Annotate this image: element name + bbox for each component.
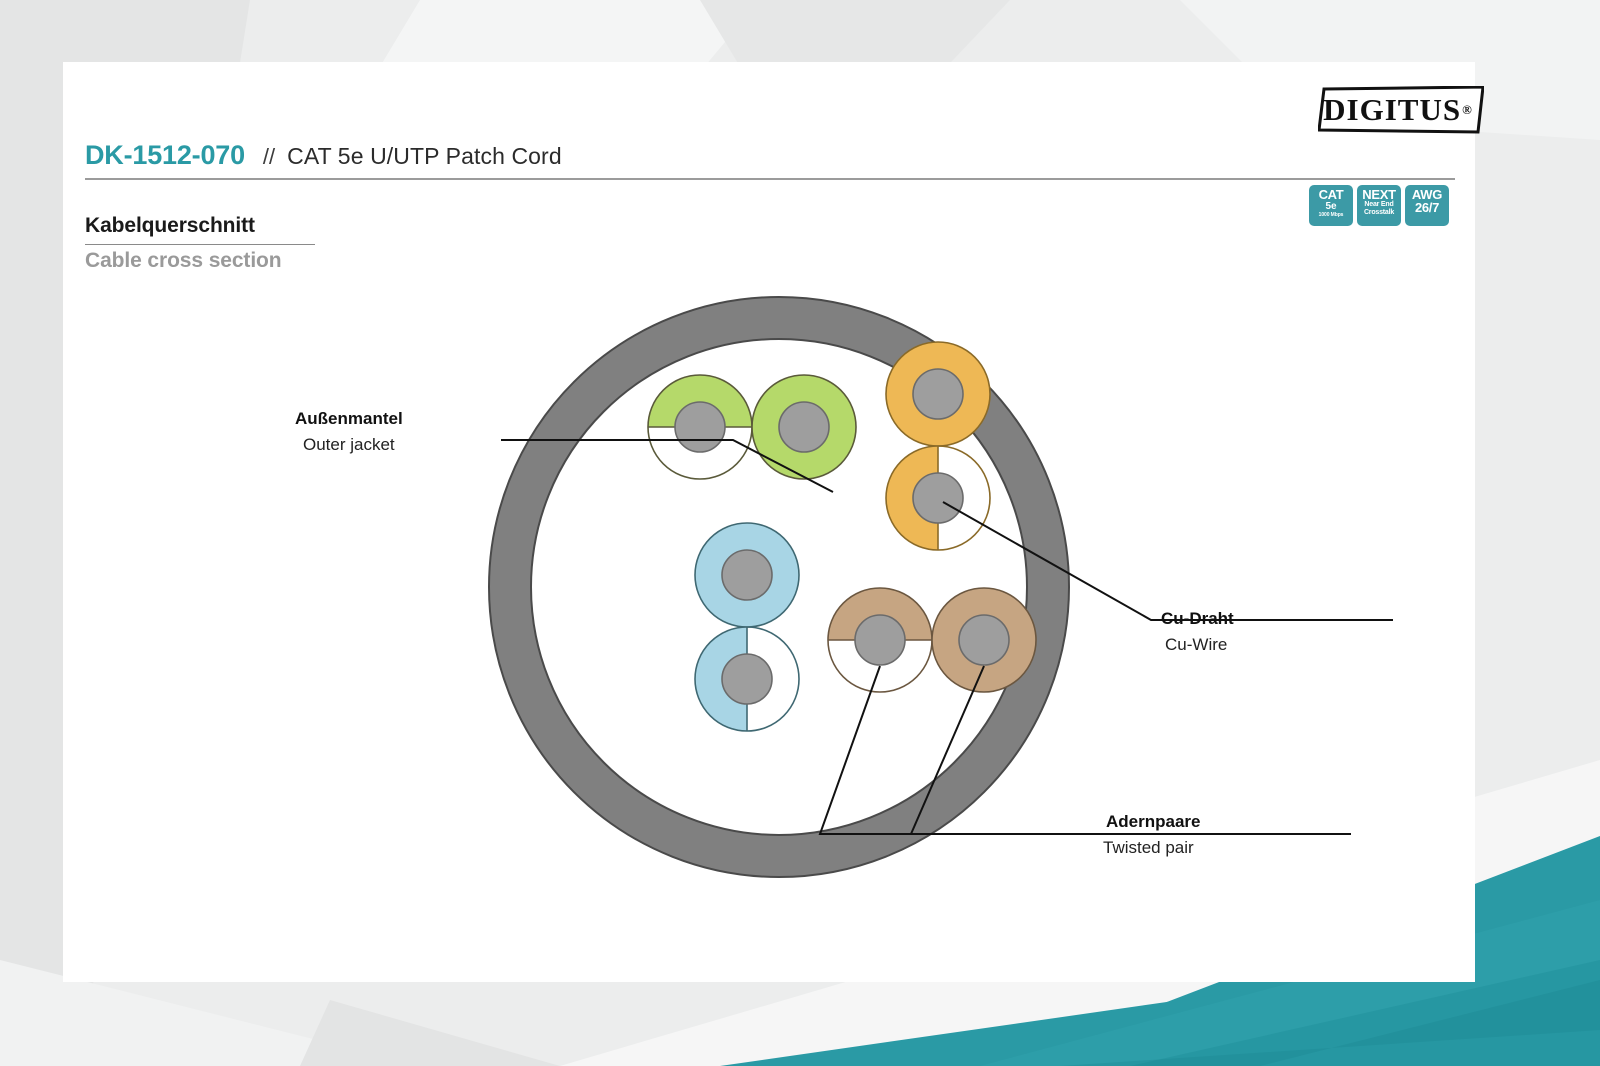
next-badge: NEXT Near End Crosstalk [1357, 185, 1401, 226]
product-sku: DK-1512-070 [85, 140, 245, 171]
cable-cross-section-diagram: Außenmantel Outer jacket Cu-Draht Cu-Wir… [63, 242, 1475, 942]
brown-solid-wire [932, 588, 1036, 692]
brown-striped-copper-core [855, 615, 905, 665]
page-title: DK-1512-070 // CAT 5e U/UTP Patch Cord [85, 140, 1455, 171]
registered-mark-icon: ® [1462, 102, 1473, 118]
logo-text: DIGITUS [1323, 92, 1461, 128]
outer-jacket-label-en: Outer jacket [303, 435, 395, 454]
blue-solid-copper-core [722, 550, 772, 600]
awg-badge-line2: 26/7 [1415, 201, 1439, 214]
green-striped-copper-core [675, 402, 725, 452]
certification-badges: CAT 5e 1000 Mbps NEXT Near End Crosstalk… [1309, 185, 1449, 226]
product-name: CAT 5e U/UTP Patch Cord [287, 143, 562, 170]
cat-badge-line1: CAT [1319, 188, 1344, 201]
cat-badge-line3: 1000 Mbps [1319, 212, 1344, 218]
twisted-pair-label-de: Adernpaare [1106, 812, 1200, 831]
outer-jacket-label-de: Außenmantel [295, 409, 403, 428]
title-separator: // [263, 144, 275, 170]
section-heading-de: Kabelquerschnitt [85, 214, 255, 238]
cu-wire-label-en: Cu-Wire [1165, 635, 1227, 654]
digitus-logo: DIGITUS® [1318, 86, 1484, 134]
cat-badge-line2: 5e [1325, 201, 1336, 212]
orange-striped-copper-core [913, 473, 963, 523]
next-badge-line2: Near End [1364, 201, 1393, 209]
cat-5e-badge: CAT 5e 1000 Mbps [1309, 185, 1353, 226]
green-solid-copper-core [779, 402, 829, 452]
awg-badge: AWG 26/7 [1405, 185, 1449, 226]
cross-section-svg: Außenmantel Outer jacket Cu-Draht Cu-Wir… [63, 242, 1475, 942]
green-solid-wire [752, 375, 856, 479]
next-badge-line1: NEXT [1362, 188, 1395, 201]
blue-striped-copper-core [722, 654, 772, 704]
orange-solid-wire [886, 342, 990, 446]
logo-wordmark: DIGITUS® [1318, 86, 1484, 134]
cu-wire-label-de: Cu-Draht [1161, 609, 1234, 628]
twisted-pair-label-en: Twisted pair [1103, 838, 1194, 857]
brown-solid-copper-core [959, 615, 1009, 665]
slide-page: DIGITUS® DK-1512-070 // CAT 5e U/UTP Pat… [0, 0, 1600, 1066]
blue-solid-wire [695, 523, 799, 627]
orange-solid-copper-core [913, 369, 963, 419]
title-divider [85, 178, 1455, 180]
content-card: DIGITUS® DK-1512-070 // CAT 5e U/UTP Pat… [63, 62, 1475, 982]
next-badge-line3: Crosstalk [1364, 209, 1394, 217]
